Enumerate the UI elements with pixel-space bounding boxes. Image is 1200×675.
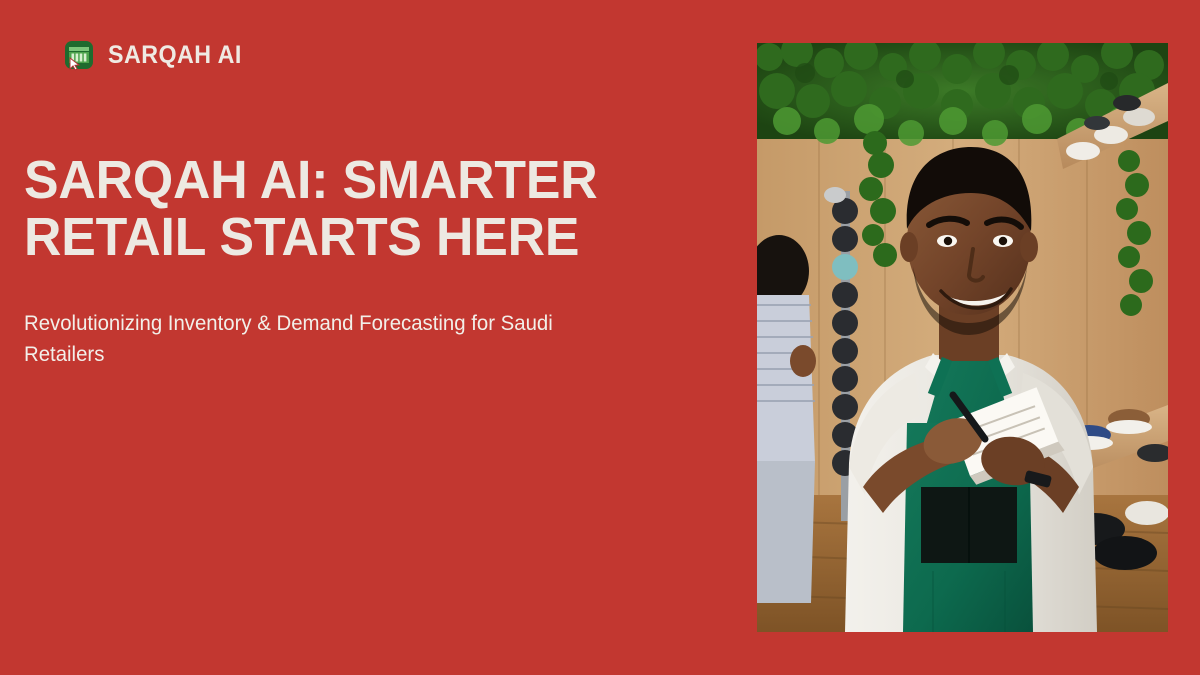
slide-canvas: SARQAH AI SARQAH AI: SMARTER RETAIL STAR…: [0, 0, 1200, 675]
storefront-cursor-icon: [62, 38, 96, 72]
page-subtitle: Revolutionizing Inventory & Demand Forec…: [24, 309, 596, 370]
page-title: SARQAH AI: SMARTER RETAIL STARTS HERE: [24, 152, 706, 266]
hero-photo: [757, 43, 1168, 632]
brand-logo-lockup[interactable]: SARQAH AI: [62, 38, 252, 72]
brand-wordmark: SARQAH AI: [108, 43, 242, 68]
hero-text-block: SARQAH AI: SMARTER RETAIL STARTS HERE Re…: [24, 152, 734, 370]
